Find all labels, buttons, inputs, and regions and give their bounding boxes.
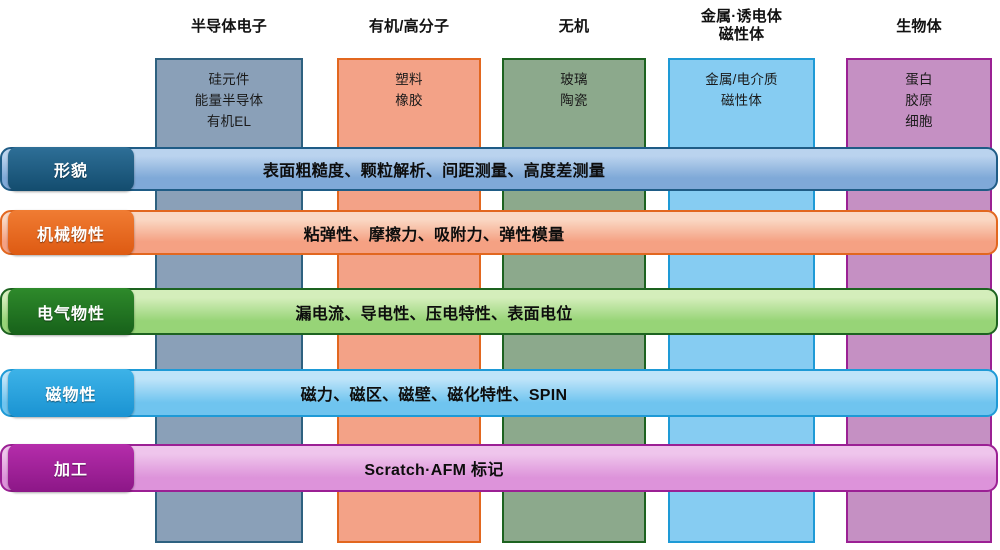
column-header-1: 有机/高分子 bbox=[337, 18, 481, 36]
row-label-electrical: 电气物性 bbox=[8, 288, 134, 335]
row-label-magnetic: 磁物性 bbox=[8, 369, 134, 417]
band-label-magnetic: 磁力、磁区、磁壁、磁化特性、SPIN bbox=[301, 381, 568, 405]
capability-band-magnetic: 磁力、磁区、磁壁、磁化特性、SPIN bbox=[0, 369, 998, 417]
column-header-4: 生物体 bbox=[846, 18, 992, 36]
band-label-mechanical: 粘弹性、摩擦力、吸附力、弹性模量 bbox=[304, 221, 565, 245]
column-header-3: 金属·诱电体 磁性体 bbox=[668, 8, 815, 44]
row-label-processing: 加工 bbox=[8, 444, 134, 492]
row-label-mechanical: 机械物性 bbox=[8, 210, 134, 255]
capability-band-processing: Scratch·AFM 标记 bbox=[0, 444, 998, 492]
capability-band-electrical: 漏电流、导电性、压电特性、表面电位 bbox=[0, 288, 998, 335]
capability-band-morphology: 表面粗糙度、颗粒解析、间距测量、高度差测量 bbox=[0, 147, 998, 191]
column-header-0: 半导体电子 bbox=[155, 18, 303, 36]
diagram-canvas: 半导体电子 有机/高分子 无机 金属·诱电体 磁性体 生物体 硅元件 能量半导体… bbox=[0, 0, 1000, 550]
column-header-2: 无机 bbox=[502, 18, 646, 36]
band-label-electrical: 漏电流、导电性、压电特性、表面电位 bbox=[295, 300, 572, 324]
band-label-processing: Scratch·AFM 标记 bbox=[364, 456, 503, 480]
capability-band-mechanical: 粘弹性、摩擦力、吸附力、弹性模量 bbox=[0, 210, 998, 255]
band-label-morphology: 表面粗糙度、颗粒解析、间距测量、高度差测量 bbox=[263, 157, 605, 181]
row-label-morphology: 形貌 bbox=[8, 147, 134, 191]
